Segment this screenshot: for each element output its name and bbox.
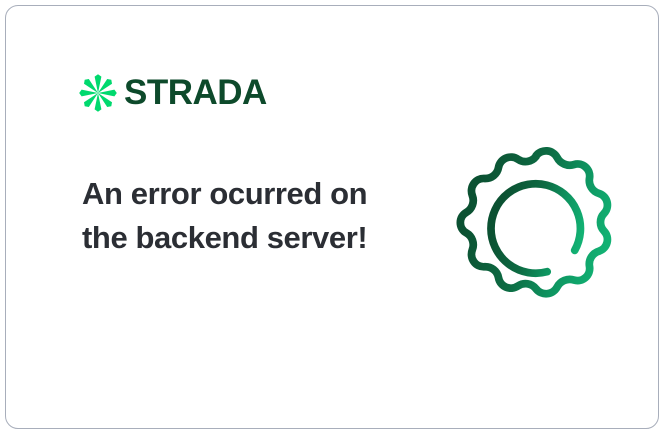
brand-lockup: STRADA xyxy=(78,73,267,113)
error-card: STRADA An error ocurred on the backend s… xyxy=(5,5,659,429)
error-message-headline: An error ocurred on the backend server! xyxy=(82,172,382,260)
strada-asterisk-icon xyxy=(78,73,118,113)
gear-loading-icon xyxy=(450,142,622,314)
brand-wordmark: STRADA xyxy=(124,75,267,110)
